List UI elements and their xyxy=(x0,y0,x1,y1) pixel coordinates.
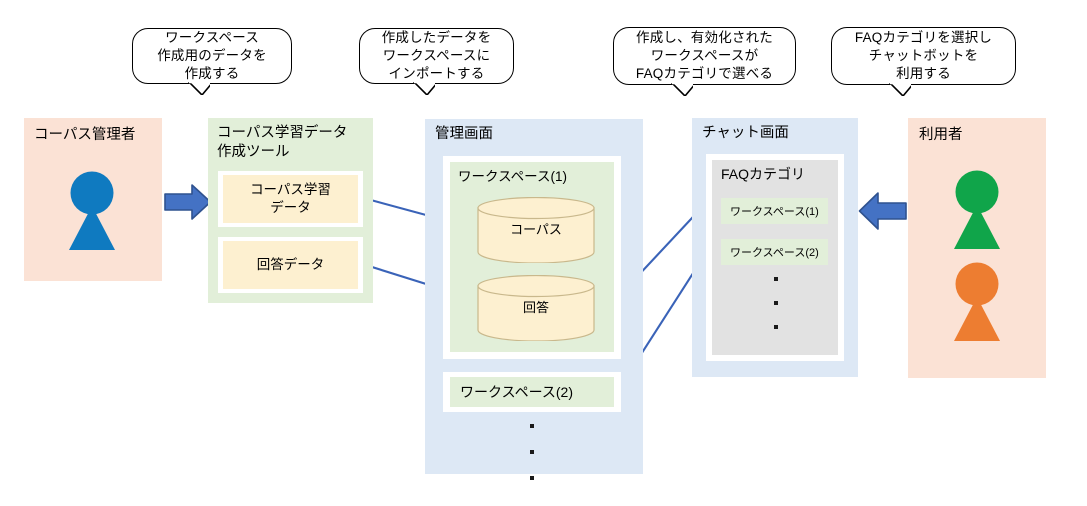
callout-tail xyxy=(671,83,693,96)
data-box-line: データ xyxy=(270,199,311,217)
callout-line: 利用する xyxy=(896,65,951,83)
faq-item-workspace-1[interactable]: ワークスペース(1) xyxy=(721,198,828,224)
workspace-2[interactable]: ワークスペース(2) xyxy=(450,377,614,407)
panel-corpus-admin: コーパス管理者 xyxy=(24,118,162,281)
callout-import-data: 作成したデータを ワークスペースに インポートする xyxy=(359,28,514,84)
person-icon-corpus-admin xyxy=(64,171,120,251)
callout-line: FAQカテゴリで選べる xyxy=(636,65,773,83)
workspace-1[interactable]: ワークスペース(1) コーパス 回答 xyxy=(450,162,614,352)
panel-title-admin-screen: 管理画面 xyxy=(435,125,493,144)
faq-item-label: ワークスペース(1) xyxy=(730,203,819,219)
workspace-1-title: ワークスペース(1) xyxy=(458,168,567,185)
callout-line: ワークスペースが xyxy=(651,47,759,65)
data-box-corpus-training-data[interactable]: コーパス学習 データ xyxy=(223,175,358,223)
cylinder-answer-label: 回答 xyxy=(476,297,596,316)
data-box-line: コーパス学習 xyxy=(250,181,331,199)
faq-category-title: FAQカテゴリ xyxy=(721,166,805,184)
data-box-answer-data[interactable]: 回答データ xyxy=(223,241,358,289)
faq-category-ellipsis xyxy=(773,277,779,329)
callout-select-workspace: 作成し、有効化された ワークスペースが FAQカテゴリで選べる xyxy=(613,27,796,85)
diagram-canvas: ワークスペース 作成用のデータを 作成する 作成したデータを ワークスペースに … xyxy=(0,0,1087,506)
block-arrow-right-icon xyxy=(164,183,212,226)
callout-line: 作成する xyxy=(185,65,240,83)
faq-category-panel: FAQカテゴリ ワークスペース(1) ワークスペース(2) xyxy=(712,160,838,355)
callout-line: 作成したデータを xyxy=(382,29,492,47)
callout-line: FAQカテゴリを選択し xyxy=(855,29,992,47)
cylinder-answer[interactable]: 回答 xyxy=(476,275,596,346)
panel-admin-screen: 管理画面 ワークスペース(1) コーパス xyxy=(425,119,643,474)
panel-users: 利用者 xyxy=(908,118,1046,378)
callout-tail xyxy=(413,82,435,95)
data-box-line: 回答データ xyxy=(257,256,325,274)
panel-creation-tool: コーパス学習データ 作成ツール コーパス学習 データ 回答データ xyxy=(208,118,373,303)
panel-title-line: コーパス学習データ xyxy=(217,124,347,143)
cylinder-corpus[interactable]: コーパス xyxy=(476,197,596,268)
callout-line: チャットボットを xyxy=(869,47,978,65)
block-arrow-left-icon xyxy=(858,191,908,236)
panel-title-line: 作成ツール xyxy=(217,143,347,162)
faq-item-workspace-2[interactable]: ワークスペース(2) xyxy=(721,239,828,265)
workspace1-frame: ワークスペース(1) コーパス 回答 xyxy=(443,156,621,359)
panel-title-chat-screen: チャット画面 xyxy=(702,124,789,143)
panel-title-corpus-admin: コーパス管理者 xyxy=(34,126,135,145)
workspace2-frame: ワークスペース(2) xyxy=(443,372,621,412)
callout-line: 作成用のデータを xyxy=(157,47,267,65)
person-icon-user-orange xyxy=(949,262,1005,342)
panel-title-users: 利用者 xyxy=(919,126,963,145)
workspace-2-label: ワークスペース(2) xyxy=(460,382,573,402)
data-box-wrapper: 回答データ xyxy=(218,237,363,293)
faq-item-label: ワークスペース(2) xyxy=(730,244,819,260)
callout-line: ワークスペース xyxy=(165,29,259,47)
callout-line: ワークスペースに xyxy=(383,47,491,65)
callout-create-data: ワークスペース 作成用のデータを 作成する xyxy=(132,28,292,84)
callout-tail xyxy=(188,82,210,95)
callout-use-chatbot: FAQカテゴリを選択し チャットボットを 利用する xyxy=(831,27,1016,85)
callout-line: インポートする xyxy=(389,65,485,83)
person-icon-user-green xyxy=(949,170,1005,250)
faq-category-frame: FAQカテゴリ ワークスペース(1) ワークスペース(2) xyxy=(706,154,844,361)
callout-line: 作成し、有効化された xyxy=(636,29,773,47)
cylinder-corpus-label: コーパス xyxy=(476,219,596,238)
panel-title-creation-tool: コーパス学習データ 作成ツール xyxy=(217,124,347,161)
admin-screen-ellipsis xyxy=(529,424,535,480)
panel-chat-screen: チャット画面 FAQカテゴリ ワークスペース(1) ワークスペース(2) xyxy=(692,118,858,377)
callout-tail xyxy=(889,83,911,96)
data-box-wrapper: コーパス学習 データ xyxy=(218,171,363,227)
